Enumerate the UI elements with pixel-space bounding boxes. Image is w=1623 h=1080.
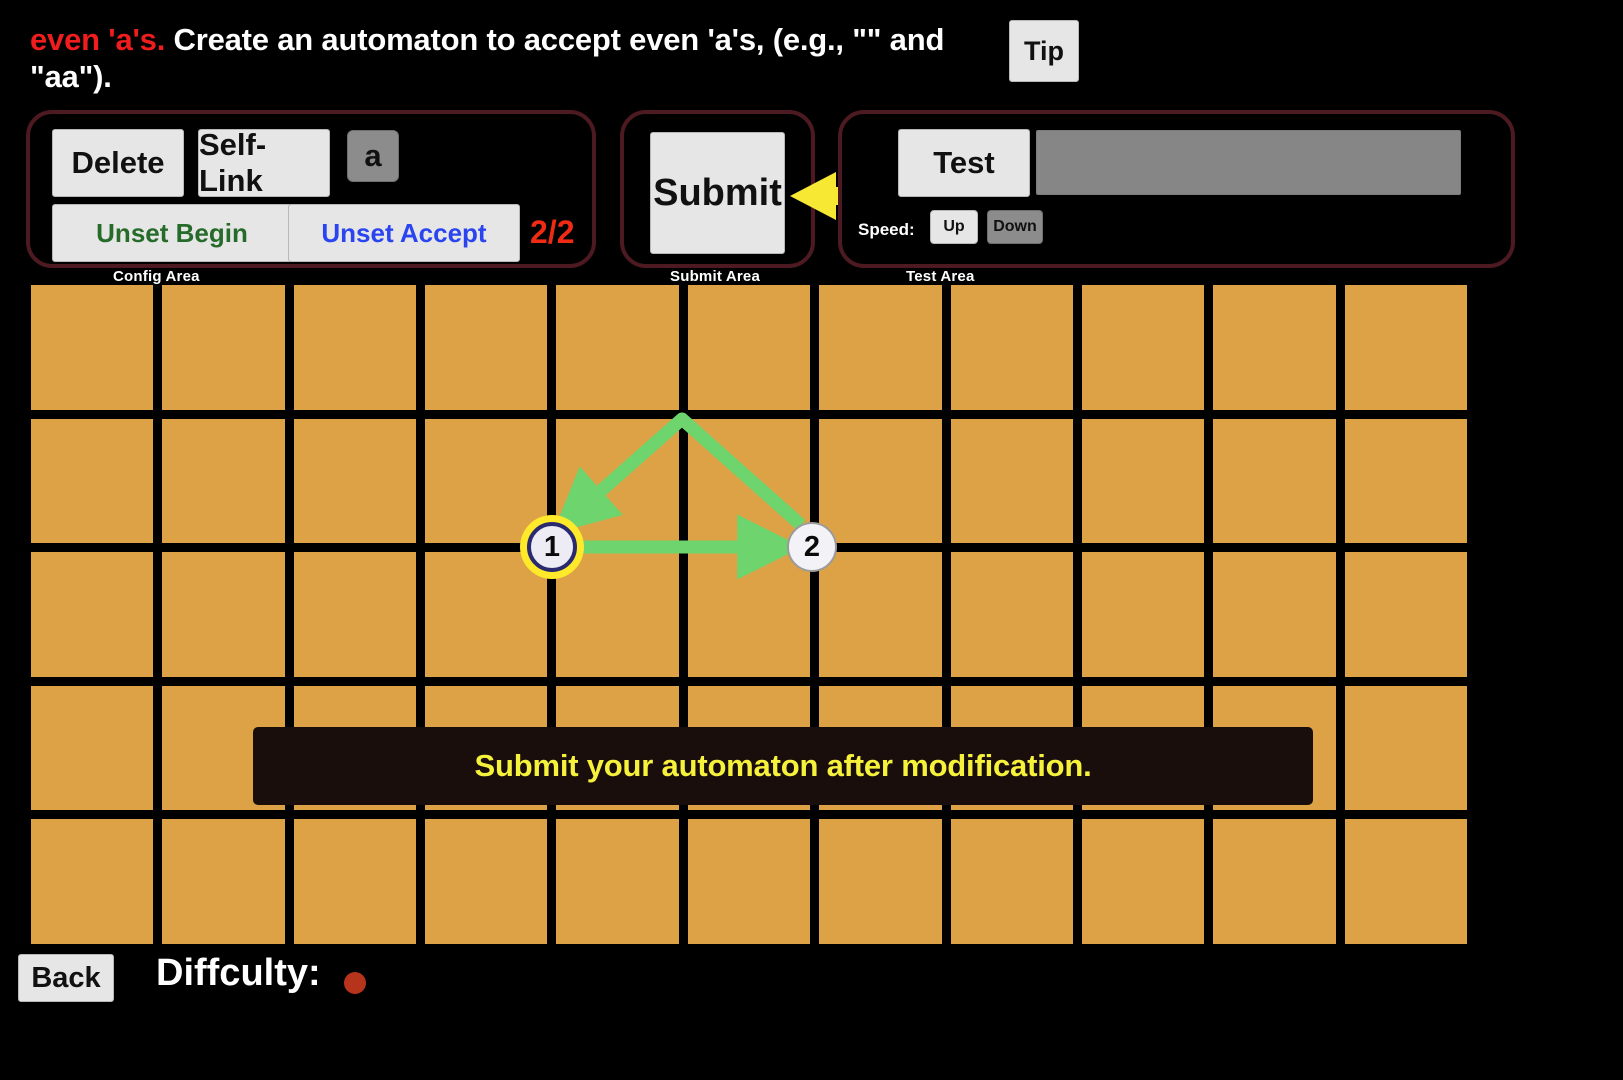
grid-cell[interactable]	[1082, 419, 1204, 544]
grid-cell[interactable]	[425, 552, 547, 677]
grid-cell[interactable]	[819, 285, 941, 410]
prompt-title: even 'a's.	[30, 22, 165, 57]
grid-cell[interactable]	[688, 552, 810, 677]
self-link-button[interactable]: Self-Link	[198, 129, 330, 197]
test-area-panel: Test Speed: Up Down	[838, 110, 1515, 268]
grid-cell[interactable]	[162, 552, 284, 677]
grid-cell[interactable]	[294, 819, 416, 944]
grid-cell[interactable]	[162, 819, 284, 944]
grid-cell[interactable]	[31, 552, 153, 677]
grid-cell[interactable]	[951, 419, 1073, 544]
difficulty-rating	[344, 972, 366, 994]
submit-area-panel: Submit	[620, 110, 815, 268]
grid-cell[interactable]	[294, 552, 416, 677]
prompt-body: Create an automaton to accept even 'a's,…	[30, 22, 944, 94]
grid-cell[interactable]	[294, 285, 416, 410]
tip-button[interactable]: Tip	[1009, 20, 1079, 82]
grid-cell[interactable]	[425, 285, 547, 410]
grid-cell[interactable]	[819, 552, 941, 677]
grid-cell[interactable]	[556, 419, 678, 544]
grid-cell[interactable]	[1345, 552, 1467, 677]
grid-cell[interactable]	[1213, 819, 1335, 944]
back-button[interactable]: Back	[18, 954, 114, 1002]
grid-cell[interactable]	[951, 819, 1073, 944]
difficulty-dot	[344, 972, 366, 994]
speed-down-button[interactable]: Down	[987, 210, 1043, 244]
grid-cell[interactable]	[556, 552, 678, 677]
grid-cell[interactable]	[1345, 819, 1467, 944]
test-input[interactable]	[1036, 130, 1461, 195]
test-button[interactable]: Test	[898, 129, 1030, 197]
grid-cell[interactable]	[162, 285, 284, 410]
unset-accept-button[interactable]: Unset Accept	[288, 204, 520, 262]
grid-cell[interactable]	[1345, 419, 1467, 544]
prompt-text: even 'a's. Create an automaton to accept…	[30, 22, 990, 95]
submit-area-label: Submit Area	[670, 268, 760, 285]
grid-cell[interactable]	[819, 819, 941, 944]
status-message-bar: Submit your automaton after modification…	[253, 727, 1313, 805]
grid-cell[interactable]	[819, 419, 941, 544]
grid-cell[interactable]	[688, 419, 810, 544]
grid-cell[interactable]	[1082, 285, 1204, 410]
grid-cell[interactable]	[1345, 285, 1467, 410]
config-area-panel: Delete Self-Link a Unset Begin Unset Acc…	[26, 110, 596, 268]
automaton-grid-canvas[interactable]	[31, 285, 1467, 944]
grid-cell[interactable]	[556, 819, 678, 944]
grid-cell[interactable]	[1213, 285, 1335, 410]
grid-cell[interactable]	[1082, 552, 1204, 677]
grid-cell[interactable]	[1213, 419, 1335, 544]
grid-cell[interactable]	[556, 285, 678, 410]
grid-cell[interactable]	[162, 419, 284, 544]
footer-bar: Back Diffculty:	[0, 944, 1623, 1080]
grid-cell[interactable]	[294, 419, 416, 544]
grid-cell[interactable]	[425, 419, 547, 544]
grid-cell[interactable]	[688, 819, 810, 944]
test-area-label: Test Area	[906, 268, 975, 285]
grid-cell[interactable]	[31, 819, 153, 944]
grid-cell[interactable]	[1082, 819, 1204, 944]
grid-cell[interactable]	[688, 285, 810, 410]
grid-cell[interactable]	[1213, 552, 1335, 677]
speed-label: Speed:	[858, 220, 915, 240]
delete-button[interactable]: Delete	[52, 129, 184, 197]
grid-cell[interactable]	[951, 552, 1073, 677]
grid-cell[interactable]	[31, 285, 153, 410]
symbol-chip-a[interactable]: a	[347, 130, 399, 182]
speed-up-button[interactable]: Up	[930, 210, 978, 244]
unset-begin-button[interactable]: Unset Begin	[52, 204, 292, 262]
submit-button[interactable]: Submit	[650, 132, 785, 254]
grid-cell[interactable]	[951, 285, 1073, 410]
difficulty-label: Diffculty:	[156, 952, 321, 995]
grid-cell[interactable]	[31, 419, 153, 544]
grid-cell[interactable]	[31, 686, 153, 811]
prompt-header: even 'a's. Create an automaton to accept…	[0, 0, 1623, 105]
status-message-text: Submit your automaton after modification…	[475, 748, 1092, 784]
config-area-label: Config Area	[113, 268, 200, 285]
grid-cell[interactable]	[1345, 686, 1467, 811]
grid-cell[interactable]	[425, 819, 547, 944]
state-counter: 2/2	[530, 214, 574, 251]
